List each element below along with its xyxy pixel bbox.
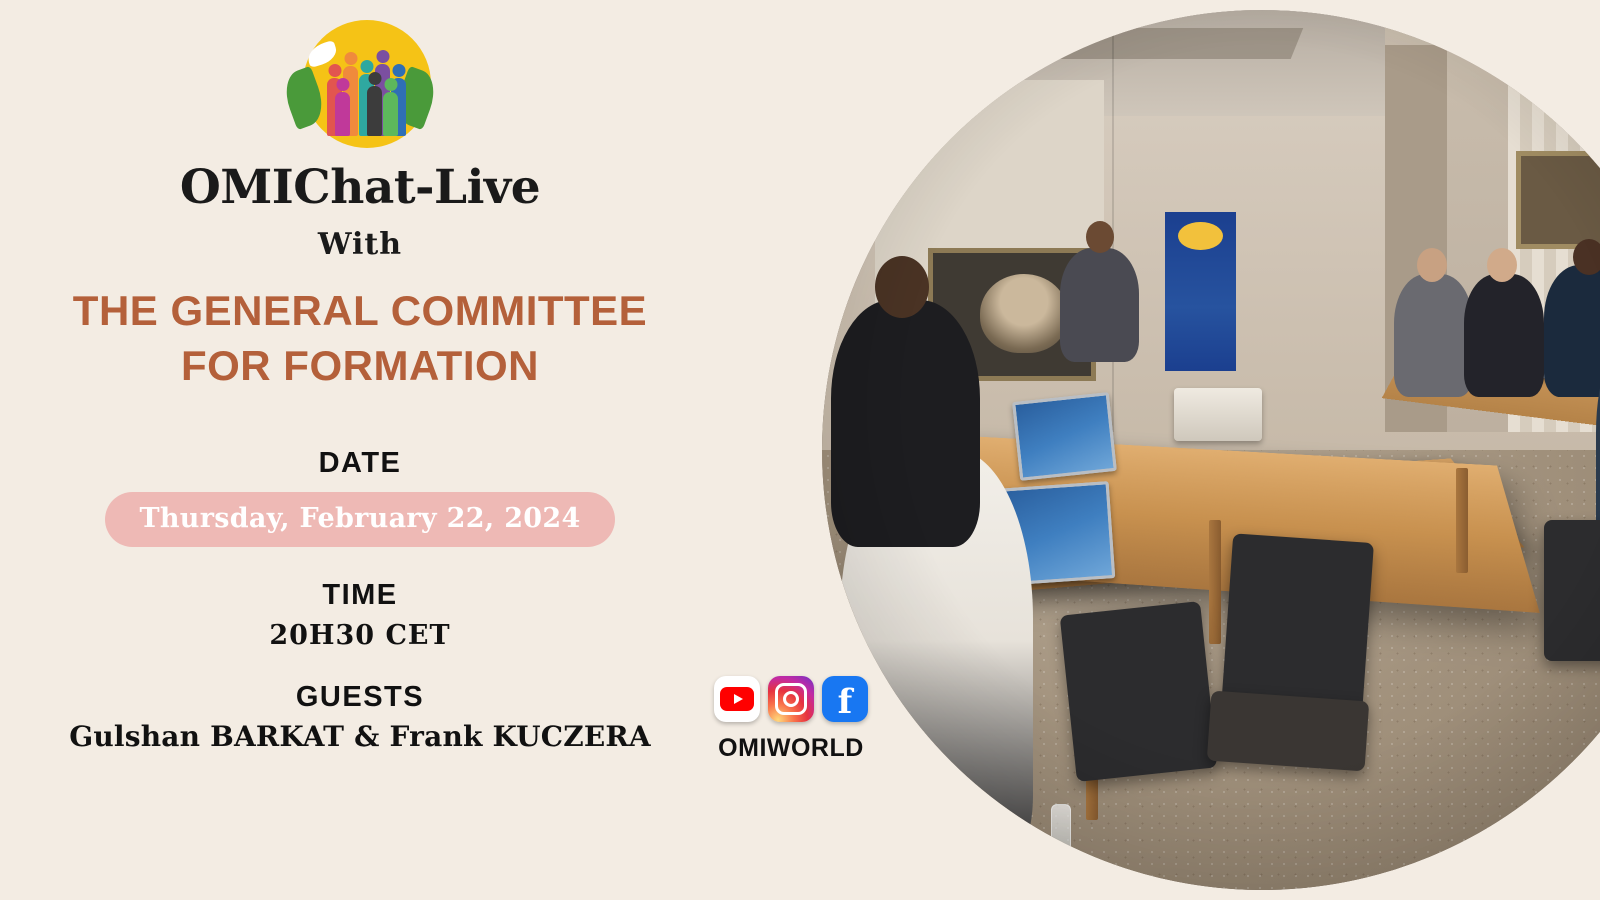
time-value: 20H30 CET — [0, 620, 720, 651]
event-details: DATE Thursday, February 22, 2024 TIME 20… — [0, 447, 720, 753]
left-content-column: OMIChat-Live With THE GENERAL COMMITTEE … — [0, 0, 720, 900]
time-label: TIME — [0, 579, 720, 612]
date-badge: Thursday, February 22, 2024 — [105, 492, 614, 547]
with-label: With — [318, 227, 402, 262]
ceiling-beam — [939, 28, 1303, 59]
table-leg — [1456, 468, 1468, 574]
laptop — [1012, 392, 1117, 481]
date-label: DATE — [0, 447, 720, 480]
projector — [1174, 388, 1262, 441]
wall-speaker-icon — [1526, 36, 1552, 80]
page-title: OMIChat-Live — [180, 160, 540, 215]
youtube-icon[interactable] — [714, 676, 760, 722]
portrait-figure — [980, 274, 1068, 353]
committee-line-1: THE GENERAL COMMITTEE — [73, 284, 647, 339]
logo-figure-icon — [383, 92, 398, 136]
guests-label: GUESTS — [0, 681, 720, 714]
roll-up-banner — [1165, 212, 1235, 370]
guests-value: Gulshan BARKAT & Frank KUCZERA — [0, 720, 720, 753]
participant — [831, 300, 981, 546]
committee-line-2: FOR FORMATION — [73, 339, 647, 394]
participant-head — [875, 256, 929, 318]
participant-head — [1573, 239, 1600, 275]
instagram-icon[interactable] — [768, 676, 814, 722]
committee-name: THE GENERAL COMMITTEE FOR FORMATION — [73, 284, 647, 393]
participant — [1394, 274, 1473, 397]
meeting-room-photograph — [822, 10, 1600, 890]
poster-canvas: OMIChat-Live With THE GENERAL COMMITTEE … — [0, 0, 1600, 900]
chair — [1221, 533, 1374, 718]
logo-figure-icon — [367, 86, 382, 136]
participant-head — [1417, 248, 1447, 282]
photo-scene — [822, 10, 1600, 890]
omiworld-logo — [285, 14, 435, 154]
table-leg — [1209, 520, 1221, 643]
chair — [1060, 601, 1218, 782]
participant — [1544, 265, 1600, 397]
participant — [1464, 274, 1543, 397]
logo-figure-icon — [335, 92, 350, 136]
framed-picture-right — [1516, 151, 1600, 249]
participant-head — [1086, 221, 1114, 253]
chair — [1544, 520, 1600, 661]
participant-head — [1487, 248, 1517, 282]
water-bottle — [1051, 804, 1071, 864]
chair-seat — [1207, 691, 1370, 772]
participant — [1060, 248, 1139, 362]
wall-seam — [1112, 10, 1114, 432]
